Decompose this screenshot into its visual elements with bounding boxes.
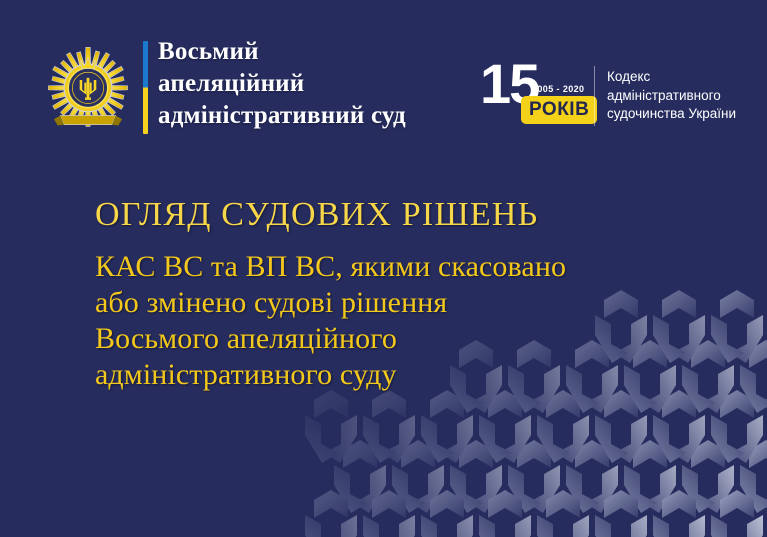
code-title: Кодекс адміністративного судочинства Укр… <box>607 68 767 124</box>
court-name-line-3: адміністративний суд <box>158 100 458 132</box>
anniversary-years-range: 2005 - 2020 <box>532 84 584 94</box>
code-title-line-2: адміністративного <box>607 87 767 106</box>
banner-header: Восьмий апеляційний адміністративний суд… <box>0 0 767 150</box>
ukrainian-court-emblem-icon <box>42 40 134 132</box>
anniversary-label: РОКІВ <box>521 96 597 124</box>
court-review-banner: Восьмий апеляційний адміністративний суд… <box>0 0 767 537</box>
code-title-line-1: Кодекс <box>607 68 767 87</box>
page-subtitle-line-3: Восьмого апеляційного <box>95 321 735 357</box>
page-title: ОГЛЯД СУДОВИХ РІШЕНЬ <box>95 196 735 234</box>
ukraine-flag-accent-bar <box>143 41 148 134</box>
code-title-line-3: судочинства України <box>607 105 767 124</box>
page-subtitle: КАС ВС та ВП ВС, якими скасовано або змі… <box>95 249 735 393</box>
court-name-line-2: апеляційний <box>158 68 458 100</box>
page-subtitle-line-4: адміністративного суду <box>95 357 735 393</box>
banner-content: ОГЛЯД СУДОВИХ РІШЕНЬ КАС ВС та ВП ВС, як… <box>95 196 735 393</box>
page-subtitle-line-1: КАС ВС та ВП ВС, якими скасовано <box>95 249 735 285</box>
page-subtitle-line-2: або змінено судові рішення <box>95 285 735 321</box>
header-divider <box>594 66 595 126</box>
court-name-line-1: Восьмий <box>158 36 458 68</box>
court-name: Восьмий апеляційний адміністративний суд <box>158 36 458 132</box>
anniversary-logo: 15 2005 - 2020 РОКІВ <box>480 58 600 130</box>
